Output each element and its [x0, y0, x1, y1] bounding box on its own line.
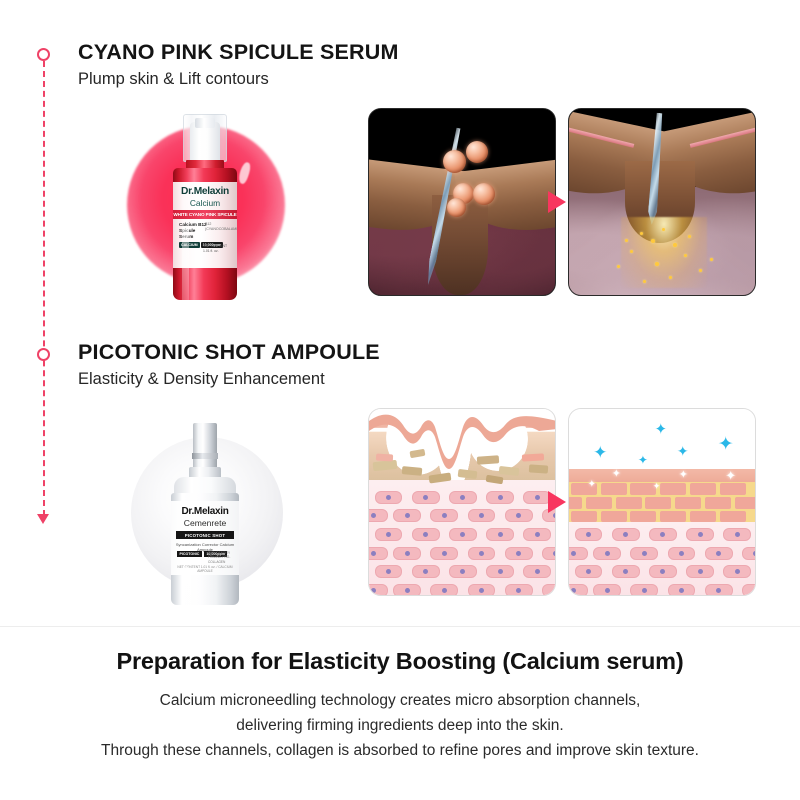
- surface-sparkle-icon: ✦: [725, 469, 736, 482]
- dermal-cell: [412, 491, 440, 504]
- ampoule-chip-picotonic: PICOTONIC: [177, 551, 202, 557]
- dermal-cell: [393, 547, 421, 560]
- dropper-cap-ring: [192, 453, 218, 459]
- collagen-fiber: [529, 464, 548, 474]
- dermal-cell: [468, 547, 496, 560]
- calcium-sphere: [466, 141, 488, 163]
- surface-sparkle-icon: ✦: [612, 469, 621, 480]
- collagen-fiber: [720, 511, 746, 522]
- collagen-fiber: [568, 497, 582, 508]
- collagen-fiber: [477, 455, 500, 465]
- ampoule-label-net-content: NET CONTENT 1.01 fl. oz. / CALCIUM AMPOU…: [171, 565, 239, 573]
- dermal-cell: [686, 565, 714, 578]
- dermal-cell: [505, 509, 533, 522]
- timeline-dashed-line: [43, 61, 45, 516]
- collagen-fiber: [645, 497, 671, 508]
- pore-funnel-wall: [625, 161, 696, 243]
- illustration-wrinkled-skin-loose-collagen: [368, 408, 556, 596]
- skin-cross-section-render: [369, 109, 555, 295]
- dermal-cell: [468, 509, 496, 522]
- dermal-cell: [742, 584, 756, 596]
- dermal-cell: [523, 528, 551, 541]
- collagen-fiber: [586, 497, 612, 508]
- dermal-cell: [368, 584, 388, 596]
- arrow-right-icon-row-1: [548, 191, 566, 213]
- ampoule-body: Dr.Melaxin Cemenrete PICOTONIC SHOT Sync…: [171, 493, 239, 605]
- collagen-fiber: [660, 511, 686, 522]
- ampoule-label-product-line: Cemenrete: [171, 518, 239, 528]
- skin-layer-diagram-before: [369, 409, 555, 595]
- surface-sparkle-icon: ✦: [588, 480, 596, 490]
- collagen-fiber: [735, 497, 756, 508]
- dermal-cell: [668, 547, 696, 560]
- dermal-cell: [649, 565, 677, 578]
- dermal-cell: [593, 584, 621, 596]
- collagen-fiber: [616, 497, 642, 508]
- label-banner: WHITE CYANO PINK SPICULE: [173, 210, 237, 219]
- collagen-fiber: [630, 511, 656, 522]
- bottom-line-3: Through these channels, collagen is abso…: [0, 738, 800, 763]
- bottom-description: Calcium microneedling technology creates…: [0, 688, 800, 763]
- dermal-cell: [449, 528, 477, 541]
- arrow-right-icon-row-2: [548, 491, 566, 513]
- timeline-dot-step-2: [37, 348, 50, 361]
- bottom-line-2: delivering firming ingredients deep into…: [0, 713, 800, 738]
- section-2-subtitle: Elasticity & Density Enhancement: [78, 370, 325, 389]
- skin-layer-diagram-after: ✦ ✦ ✦ ✦ ✦ ✦ ✦ ✦ ✦ ✦: [569, 409, 755, 595]
- dermal-cell: [468, 584, 496, 596]
- collagen-fiber: [690, 483, 716, 494]
- dermal-cell: [575, 565, 603, 578]
- ampoule-bottle: Dr.Melaxin Cemenrete PICOTONIC SHOT Sync…: [163, 423, 247, 608]
- section-1-subtitle: Plump skin & Lift contours: [78, 70, 269, 89]
- sparkle-icon: ✦: [677, 444, 689, 458]
- bottom-heading: Preparation for Elasticity Boosting (Cal…: [0, 648, 800, 675]
- dermal-cell: [393, 584, 421, 596]
- dermal-cell: [568, 584, 588, 596]
- sparkle-icon: ✦: [718, 435, 734, 454]
- collagen-fiber: [660, 483, 686, 494]
- dermal-cell: [412, 528, 440, 541]
- sparkle-icon: ✦: [638, 454, 648, 466]
- ampoule-gloss: [183, 567, 191, 605]
- dermal-cell: [705, 547, 733, 560]
- dermal-cell: [486, 565, 514, 578]
- section-1-title: CYANO PINK SPICULE SERUM: [78, 40, 399, 65]
- illustration-spicule-needle-entering-pore: [368, 108, 556, 296]
- bottle-nozzle: [195, 118, 215, 128]
- dermal-cell: [523, 565, 551, 578]
- ampoule-label-brand: Dr.Melaxin: [171, 506, 239, 517]
- timeline-dot-step-1: [37, 48, 50, 61]
- infographic-page: CYANO PINK SPICULE SERUM Plump skin & Li…: [0, 0, 800, 800]
- dermal-cell: [449, 491, 477, 504]
- bottle-gloss: [182, 226, 189, 300]
- dermal-cell: [742, 547, 756, 560]
- dropper-cap: [193, 423, 217, 469]
- dermal-cell: [505, 547, 533, 560]
- ampoule-label-fine-right: SKIN DENSITY FIRMING PRO-COLLAGEN: [208, 551, 234, 564]
- label-net-content: NET CONTENT 1.01 fl. oz.: [203, 244, 233, 254]
- label-product-line: Calcium: [173, 198, 237, 208]
- dermal-cell: [612, 565, 640, 578]
- collagen-fiber: [376, 453, 393, 461]
- dermal-cell: [375, 528, 403, 541]
- collagen-fiber: [720, 483, 746, 494]
- ampoule-label-banner-text: PICOTONIC SHOT: [185, 533, 226, 538]
- dermal-cell: [575, 528, 603, 541]
- dermal-cell: [430, 509, 458, 522]
- dermal-cell: [630, 584, 658, 596]
- surface-sparkle-icon: ✦: [679, 470, 688, 481]
- section-divider: [0, 626, 800, 627]
- dermal-cell: [430, 584, 458, 596]
- surface-sparkle-icon: ✦: [653, 482, 661, 491]
- dermal-cell: [542, 584, 556, 596]
- product-image-picotonic-ampoule: Dr.Melaxin Cemenrete PICOTONIC SHOT Sync…: [105, 415, 305, 615]
- product-image-cyano-pink-serum: Dr.Melaxin Calcium WHITE CYANO PINK SPIC…: [105, 108, 305, 308]
- dermal-cell: [430, 547, 458, 560]
- dermal-cell: [542, 547, 556, 560]
- label-fine-right: B12 (CYANOCOBALAMIN): [205, 222, 233, 232]
- dermal-cell: [449, 565, 477, 578]
- calcium-sphere: [443, 150, 466, 173]
- dermal-cell: [593, 547, 621, 560]
- bottom-line-1: Calcium microneedling technology creates…: [0, 688, 800, 713]
- dermal-cell: [393, 509, 421, 522]
- bottle-pump: [190, 122, 220, 164]
- timeline-rail: [34, 48, 54, 528]
- collagen-fiber: [705, 497, 731, 508]
- collagen-fiber: [402, 466, 423, 476]
- ampoule-label: Dr.Melaxin Cemenrete PICOTONIC SHOT Sync…: [171, 501, 239, 575]
- dermal-cell: [668, 584, 696, 596]
- skin-cross-section-render-absorption: [569, 109, 755, 295]
- section-2-title: PICOTONIC SHOT AMPOULE: [78, 340, 380, 365]
- dermal-cell: [686, 528, 714, 541]
- collagen-fiber: [601, 483, 627, 494]
- dermal-cell: [368, 509, 388, 522]
- sparkle-icon: ✦: [655, 422, 668, 437]
- dermal-cell: [375, 565, 403, 578]
- dermal-cell: [505, 584, 533, 596]
- sparkle-icon: ✦: [593, 444, 607, 461]
- collagen-fiber: [571, 511, 597, 522]
- dermal-cell: [630, 547, 658, 560]
- illustration-spicule-releasing-particles: [568, 108, 756, 296]
- dermal-cell: [412, 565, 440, 578]
- dermal-cell: [568, 547, 588, 560]
- dermal-cell: [705, 584, 733, 596]
- dermal-cell: [486, 491, 514, 504]
- collagen-fiber: [601, 511, 627, 522]
- collagen-fiber: [521, 453, 544, 462]
- dermal-cell: [368, 547, 388, 560]
- dermal-cell: [375, 491, 403, 504]
- label-banner-text: WHITE CYANO PINK SPICULE: [173, 212, 236, 217]
- serum-bottle: Dr.Melaxin Calcium WHITE CYANO PINK SPIC…: [167, 114, 243, 304]
- timeline-arrow-icon: [37, 514, 49, 524]
- label-brand: Dr.Melaxin: [173, 186, 237, 197]
- collagen-fiber: [690, 511, 716, 522]
- dermal-cell: [723, 565, 751, 578]
- dermal-cell: [649, 528, 677, 541]
- dermal-cell: [612, 528, 640, 541]
- illustration-smooth-skin-dense-collagen: ✦ ✦ ✦ ✦ ✦ ✦ ✦ ✦ ✦ ✦: [568, 408, 756, 596]
- ampoule-label-banner: PICOTONIC SHOT: [176, 531, 234, 539]
- dermal-cell: [723, 528, 751, 541]
- bottle-body: Dr.Melaxin Calcium WHITE CYANO PINK SPIC…: [173, 168, 237, 300]
- collagen-fiber: [675, 497, 701, 508]
- dermal-cell: [486, 528, 514, 541]
